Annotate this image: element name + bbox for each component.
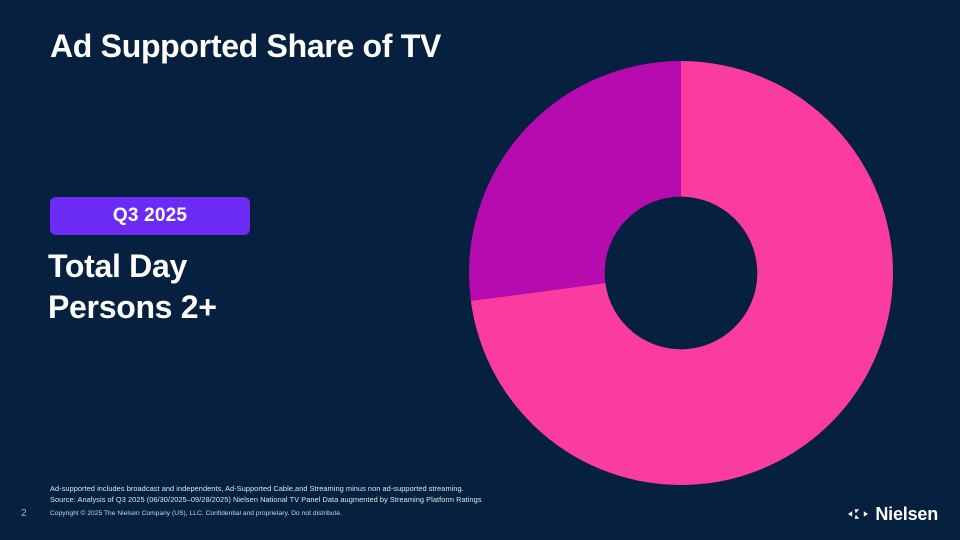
period-badge-label: Q3 2025 — [113, 205, 187, 227]
donut-chart: Non Ad Supported 27.1% Ad Supported 72.9… — [469, 61, 893, 485]
slice-label-non-ad-supported: Non Ad Supported 27.1% — [921, 206, 960, 250]
donut-chart-svg — [469, 61, 893, 485]
nielsen-logo: Nielsen — [848, 503, 938, 525]
nielsen-mark-icon — [848, 508, 868, 520]
nielsen-wordmark: Nielsen — [875, 505, 938, 523]
slide-canvas: Ad Supported Share of TV Q3 2025 Total D… — [0, 0, 960, 540]
page-title: Ad Supported Share of TV — [50, 28, 441, 65]
page-number: 2 — [21, 508, 27, 519]
subtitle-line-2: Persons 2+ — [48, 287, 217, 328]
subtitle: Total Day Persons 2+ — [48, 246, 217, 328]
footnote-source: Source: Analysis of Q3 2025 (06/30/2025–… — [50, 494, 590, 505]
donut-slice-non-ad-supported — [469, 61, 681, 301]
slice-label-non-ad-supported-name: Non Ad Supported — [921, 206, 960, 221]
footnotes: Ad-supported includes broadcast and inde… — [50, 483, 590, 519]
subtitle-line-1: Total Day — [48, 246, 217, 287]
slice-label-non-ad-supported-value: 27.1% — [921, 222, 960, 250]
footnote-methodology: Ad-supported includes broadcast and inde… — [50, 483, 590, 494]
period-badge: Q3 2025 — [50, 197, 250, 235]
footnote-copyright: Copyright © 2025 The Nielsen Company (US… — [50, 508, 590, 519]
donut-slice-group — [469, 61, 893, 485]
